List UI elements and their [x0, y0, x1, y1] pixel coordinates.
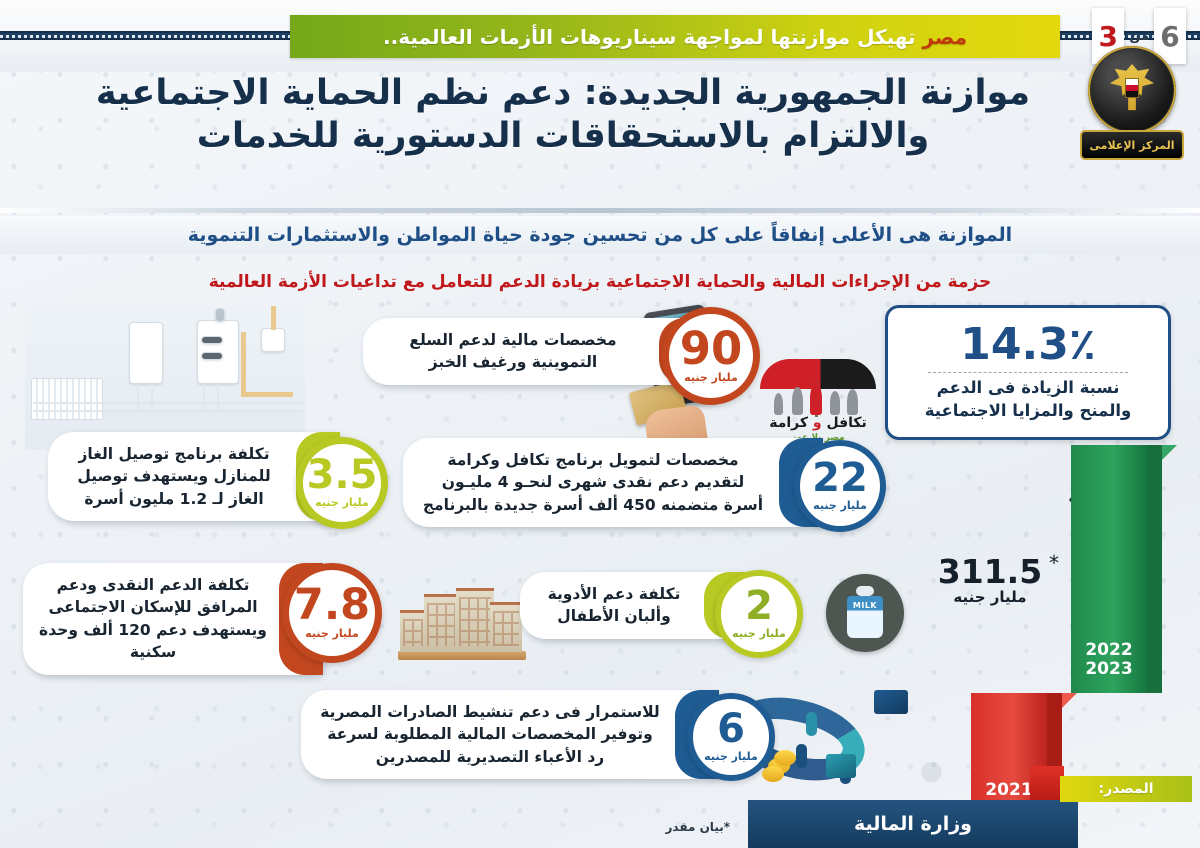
bar-1-value: 311.5 [915, 555, 1065, 588]
source-value: وزارة المالية [854, 813, 972, 835]
banner-text: تهيكل موازنتها لمواجهة سيناريوهات الأزما… [383, 25, 915, 49]
radiator-icon [31, 378, 103, 420]
card-medicine-milk-value-bubble: 2 مليار جنيه [715, 570, 803, 658]
source-red-block [1030, 766, 1064, 800]
water-heater-icon [129, 322, 163, 384]
page-title: موازنة الجمهورية الجديدة: دعم نظم الحماي… [58, 72, 1068, 157]
card-bread-subsidy-unit: مليار جنيه [684, 371, 738, 384]
subtitle-red-band: حزمة من الإجراءات المالية والحماية الاجت… [0, 264, 1200, 300]
banner-prefix: مصر [922, 25, 967, 49]
card-medicine-milk-unit: مليار جنيه [732, 627, 786, 640]
card-social-housing-unit: مليار جنيه [305, 627, 359, 640]
page-separator: من [1128, 29, 1150, 44]
subtitle-blue-text: الموازنة هى الأعلى إنفاقاً على كل من تحس… [188, 224, 1012, 246]
card-medicine-milk-value: 2 [745, 588, 773, 625]
card-bread-subsidy-text: مخصصات مالية لدعم السلع التموينية ورغيف … [363, 318, 703, 385]
card-takaful-karama-text: مخصصات لتمويل برنامج تكافل وكرامة لتقديم… [403, 438, 823, 527]
takaful-logo-icon: تكافل و كرامة مصر بلا عوز [752, 355, 884, 445]
buildings-icon [398, 578, 526, 666]
kpi-label-line2: والمنح والمزايا الاجتماعية [925, 400, 1132, 422]
card-social-housing-value: 7.8 [294, 586, 370, 626]
logo-plate-label: المركز الإعلامى [1090, 139, 1175, 152]
source-label: المصدر: [1099, 781, 1154, 797]
card-bread-subsidy[interactable]: مخصصات مالية لدعم السلع التموينية ورغيف … [363, 318, 703, 385]
card-gas-connection-value: 3.5 [307, 457, 378, 494]
card-export-support-value-bubble: 6 مليار جنيه [687, 693, 775, 781]
takaful-accent: و [813, 415, 822, 431]
cabinet-logo: المركز الإعلامى [1080, 44, 1184, 168]
card-social-housing[interactable]: تكلفة الدعم النقدى ودعم المرافق للإسكان … [23, 563, 323, 675]
card-social-housing-text: تكلفة الدعم النقدى ودعم المرافق للإسكان … [23, 563, 323, 675]
card-bread-subsidy-value: 90 [680, 328, 743, 369]
kpi-value: 14.3٪ [960, 323, 1095, 367]
header-green-banner: مصر تهيكل موازنتها لمواجهة سيناريوهات ال… [290, 15, 1060, 58]
budget-bar-chart: 356 مليار جنيه 2022 2023 311.5 مليار جني… [905, 455, 1185, 800]
milk-bottle-icon: MILK [826, 574, 904, 652]
card-medicine-milk[interactable]: تكلفة دعم الأدوية وألبان الأطفال [520, 572, 748, 639]
subtitle-blue-band: الموازنة هى الأعلى إنفاقاً على كل من تحس… [0, 216, 1200, 254]
card-gas-connection-unit: مليار جنيه [315, 496, 369, 509]
card-social-housing-value-bubble: 7.8 مليار جنيه [282, 563, 382, 663]
source-footer-bar: وزارة المالية [748, 800, 1078, 848]
subtitle-red-text: حزمة من الإجراءات المالية والحماية الاجت… [209, 272, 992, 292]
card-export-support-text: للاستمرار فى دعم تنشيط الصادرات المصرية … [301, 690, 719, 779]
card-takaful-karama-value: 22 [812, 460, 868, 497]
bar-0: 2022 2023 [1071, 445, 1147, 693]
gas-boiler-icon [25, 300, 305, 450]
card-export-support[interactable]: للاستمرار فى دعم تنشيط الصادرات المصرية … [301, 690, 719, 779]
gas-meter-icon [261, 328, 285, 352]
card-export-support-value: 6 [717, 711, 745, 748]
source-label-tab: المصدر: [1060, 776, 1192, 802]
bar-1-star: * [1045, 551, 1063, 580]
card-takaful-karama-unit: مليار جنيه [813, 499, 867, 512]
kpi-increase-box: 14.3٪ نسبة الزيادة فى الدعم والمنح والمز… [885, 305, 1171, 440]
page-title-line1: موازنة الجمهورية الجديدة: دعم نظم الحماي… [58, 72, 1068, 115]
kpi-label-line1: نسبة الزيادة فى الدعم [937, 377, 1120, 399]
takaful-title: تكافل [826, 415, 866, 431]
card-export-support-unit: مليار جنيه [704, 750, 758, 763]
card-takaful-karama-value-bubble: 22 مليار جنيه [794, 440, 886, 532]
bar-0-label-line2: 2023 [1071, 660, 1147, 679]
card-takaful-karama[interactable]: مخصصات لتمويل برنامج تكافل وكرامة لتقديم… [403, 438, 823, 527]
card-gas-connection-value-bubble: 3.5 مليار جنيه [296, 437, 388, 529]
milk-label: MILK [847, 601, 883, 610]
logo-plate: المركز الإعلامى [1080, 130, 1184, 160]
card-bread-subsidy-value-bubble: 90 مليار جنيه [662, 307, 760, 405]
header-divider [0, 208, 1200, 213]
logo-ring [1088, 46, 1176, 134]
estimate-note: *بيان مقدر [665, 820, 730, 834]
bar-1-value-tag: 311.5 مليار جنيه [915, 555, 1065, 606]
bar-0-label-line1: 2022 [1071, 641, 1147, 660]
page-title-line2: والالتزام بالاستحقاقات الدستورية للخدمات [58, 115, 1068, 158]
takaful-title2: كرامة [769, 415, 808, 431]
